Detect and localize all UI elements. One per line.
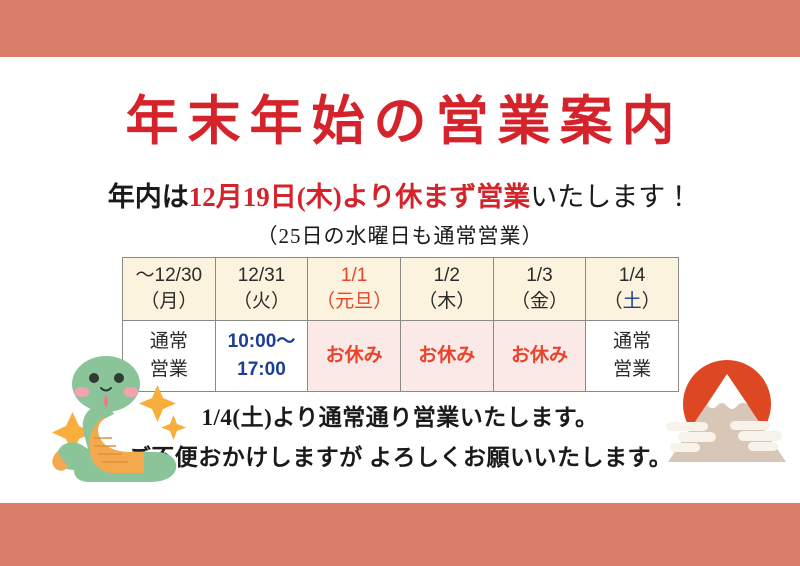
mount-fuji-sunrise-icon <box>664 352 790 484</box>
header-date: 1/4 <box>586 263 678 289</box>
header-weekday: （土） <box>586 289 678 315</box>
subtitle-tail: いたします！ <box>530 182 692 212</box>
schedule-table: 〜12/30 （月） 12/31 （火） 1/1 （元旦） 1/2 （木） 1/… <box>122 257 679 392</box>
status-line-1: お休み <box>401 342 493 370</box>
paren-open: （ <box>604 291 623 312</box>
status-line-2: 17:00 <box>216 356 308 384</box>
header-weekday: （木） <box>401 289 493 315</box>
schedule-status-cell-4: お休み <box>493 321 586 392</box>
schedule-header-cell-4: 1/3 （金） <box>493 258 586 321</box>
snake-cheek-left <box>75 387 90 397</box>
status-line-1: お休み <box>494 342 586 370</box>
subtitle-lead: 年内は <box>108 182 189 212</box>
header-date: 1/1 <box>308 263 400 289</box>
snake-eye-right <box>114 373 124 383</box>
snake-eye-left <box>89 373 99 383</box>
subtitle-line: 年内は12月19日(木)より休まず営業いたします！ <box>0 182 800 213</box>
schedule-header-cell-3: 1/2 （木） <box>400 258 493 321</box>
bottom-decorative-band <box>0 503 800 566</box>
header-weekday: （元旦） <box>308 289 400 315</box>
schedule-status-row: 通常 営業 10:00〜 17:00 お休み お休み お休み 通常 <box>123 321 679 392</box>
subtitle-note: （25日の水曜日も通常営業） <box>0 224 800 249</box>
schedule-header-cell-0: 〜12/30 （月） <box>123 258 216 321</box>
header-weekday: （金） <box>494 289 586 315</box>
status-line-1: 10:00〜 <box>216 328 308 356</box>
schedule-status-cell-2: お休み <box>308 321 401 392</box>
header-date: 〜12/30 <box>123 263 215 289</box>
holiday-notice-poster: 年末年始の営業案内 年内は12月19日(木)より休まず営業いたします！ （25日… <box>0 0 800 566</box>
status-line-1: お休み <box>308 342 400 370</box>
page-title: 年末年始の営業案内 <box>0 96 800 149</box>
schedule-header-cell-2: 1/1 （元旦） <box>308 258 401 321</box>
paren-close: ） <box>642 291 661 312</box>
schedule-status-cell-3: お休み <box>400 321 493 392</box>
header-date: 12/31 <box>216 263 308 289</box>
subtitle-highlight: 12月19日(木)より休まず営業 <box>189 182 530 212</box>
snake-cheek-right <box>124 387 139 397</box>
header-date: 1/3 <box>494 263 586 289</box>
schedule-header-cell-5: 1/4 （土） <box>586 258 679 321</box>
header-weekday: （火） <box>216 289 308 315</box>
sparkle-star-medium <box>139 385 176 422</box>
schedule-header-row: 〜12/30 （月） 12/31 （火） 1/1 （元旦） 1/2 （木） 1/… <box>123 258 679 321</box>
sparkle-star-small <box>161 415 186 440</box>
top-decorative-band <box>0 0 800 57</box>
schedule-status-cell-1: 10:00〜 17:00 <box>215 321 308 392</box>
saturday-mark: 土 <box>623 291 642 312</box>
schedule-header-cell-1: 12/31 （火） <box>215 258 308 321</box>
snake-mascot-icon <box>44 352 194 487</box>
header-date: 1/2 <box>401 263 493 289</box>
header-weekday: （月） <box>123 289 215 315</box>
